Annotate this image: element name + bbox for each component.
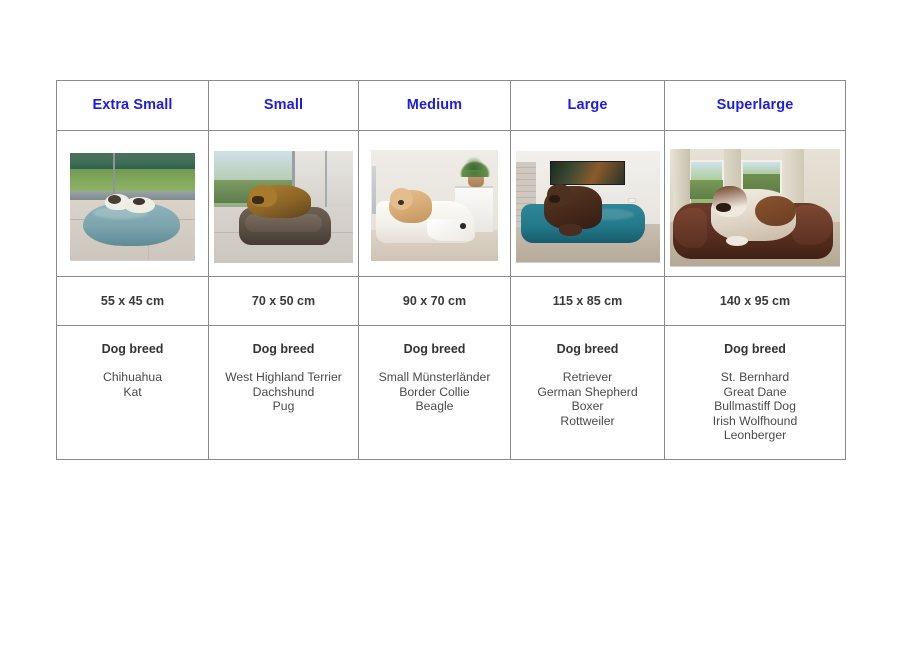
breed-item: Chihuahua [57, 370, 208, 385]
table-image-row [57, 131, 846, 277]
breed-item: Boxer [511, 399, 664, 414]
dimension-label-medium: 90 x 70 cm [359, 294, 510, 308]
breed-item: West Highland Terrier [209, 370, 358, 385]
scene-grass [70, 169, 195, 193]
breed-item: Dachshund [209, 385, 358, 400]
scene-sky [70, 153, 195, 170]
image-cell-small [209, 131, 359, 277]
image-wrap-medium [359, 131, 510, 276]
breed-list-large: RetrieverGerman ShepherdBoxerRottweiler [511, 370, 664, 428]
scene-bed-fold [427, 219, 475, 241]
breed-title-large: Dog breed [511, 342, 664, 356]
photo-small-dog-bed [214, 151, 353, 263]
header-label-medium: Medium [359, 98, 510, 114]
breed-item: Retriever [511, 370, 664, 385]
image-wrap-small [209, 131, 358, 276]
breed-cell-superlarge: Dog breed St. BernhardGreat DaneBullmast… [665, 326, 846, 460]
page-root: Extra Small Small Medium Large Superlarg… [0, 0, 900, 660]
breed-title-extra-small: Dog breed [57, 342, 208, 356]
dog-bed-size-table: Extra Small Small Medium Large Superlarg… [56, 80, 846, 460]
breed-list-superlarge: St. BernhardGreat DaneBullmastiff DogIri… [665, 370, 845, 443]
breed-item: Small Münsterländer [359, 370, 510, 385]
scene-wall-artwork [550, 161, 625, 186]
scene-cockapoo-head [390, 188, 413, 210]
breed-item: Pug [209, 399, 358, 414]
breed-cell-extra-small: Dog breed ChihuahuaKat [57, 326, 209, 460]
breed-cell-large: Dog breed RetrieverGerman ShepherdBoxerR… [511, 326, 665, 460]
breed-item: Bullmastiff Dog [665, 399, 845, 414]
scene-bed-bolster-left [673, 208, 707, 248]
image-cell-extra-small [57, 131, 209, 277]
scene-bed-label [460, 223, 466, 229]
dimension-label-small: 70 x 50 cm [209, 294, 358, 308]
breed-item: Beagle [359, 399, 510, 414]
scene-labrador-snout [549, 195, 561, 203]
scene-st-bernard-snout [716, 203, 731, 212]
breed-list-small: West Highland TerrierDachshundPug [209, 370, 358, 414]
dimension-cell-large: 115 x 85 cm [511, 277, 665, 326]
dimension-cell-superlarge: 140 x 95 cm [665, 277, 846, 326]
breed-list-medium: Small MünsterländerBorder CollieBeagle [359, 370, 510, 414]
scene-st-bernard-head [713, 186, 747, 217]
scene-wall-socket [628, 198, 637, 204]
breed-item: Border Collie [359, 385, 510, 400]
dimension-cell-medium: 90 x 70 cm [359, 277, 511, 326]
breed-title-small: Dog breed [209, 342, 358, 356]
photo-extra-small-dog-bed [70, 153, 195, 261]
image-cell-superlarge [665, 131, 846, 277]
breed-item: Great Dane [665, 385, 845, 400]
breed-title-superlarge: Dog breed [665, 342, 845, 356]
table-header-row: Extra Small Small Medium Large Superlarg… [57, 81, 846, 131]
breed-item: Rottweiler [511, 414, 664, 429]
scene-labrador-paw [559, 224, 582, 235]
scene-st-bernard-patch [755, 196, 796, 227]
breed-cell-small: Dog breed West Highland TerrierDachshund… [209, 326, 359, 460]
breed-title-medium: Dog breed [359, 342, 510, 356]
image-wrap-superlarge [665, 131, 845, 276]
photo-large-dog-bed [516, 151, 660, 263]
breed-item: Leonberger [665, 428, 845, 443]
header-label-extra-small: Extra Small [57, 98, 208, 114]
photo-superlarge-dog-bed [670, 149, 840, 267]
breed-cell-medium: Dog breed Small MünsterländerBorder Coll… [359, 326, 511, 460]
header-label-large: Large [511, 98, 664, 114]
image-cell-medium [359, 131, 511, 277]
scene-terrier-snout [252, 196, 265, 204]
breed-item: Kat [57, 385, 208, 400]
header-cell-extra-small: Extra Small [57, 81, 209, 131]
dimension-label-large: 115 x 85 cm [511, 294, 664, 308]
breed-item: Irish Wolfhound [665, 414, 845, 429]
header-cell-large: Large [511, 81, 665, 131]
scene-plant-foliage-top [464, 157, 484, 170]
image-cell-large [511, 131, 665, 277]
dimension-label-extra-small: 55 x 45 cm [57, 294, 208, 308]
image-wrap-extra-small [57, 131, 208, 276]
image-wrap-large [511, 131, 664, 276]
dimension-cell-small: 70 x 50 cm [209, 277, 359, 326]
dimension-cell-extra-small: 55 x 45 cm [57, 277, 209, 326]
table-dimension-row: 55 x 45 cm 70 x 50 cm 90 x 70 cm 115 x 8… [57, 277, 846, 326]
breed-list-extra-small: ChihuahuaKat [57, 370, 208, 399]
breed-item: German Shepherd [511, 385, 664, 400]
breed-item: St. Bernhard [665, 370, 845, 385]
header-label-superlarge: Superlarge [665, 98, 845, 114]
scene-window-frame-second [325, 151, 327, 214]
table-breed-row: Dog breed ChihuahuaKat Dog breed West Hi… [57, 326, 846, 460]
header-cell-superlarge: Superlarge [665, 81, 846, 131]
header-label-small: Small [209, 98, 358, 114]
header-cell-medium: Medium [359, 81, 511, 131]
header-cell-small: Small [209, 81, 359, 131]
dimension-label-superlarge: 140 x 95 cm [665, 294, 845, 308]
photo-medium-dog-bed [371, 150, 498, 261]
